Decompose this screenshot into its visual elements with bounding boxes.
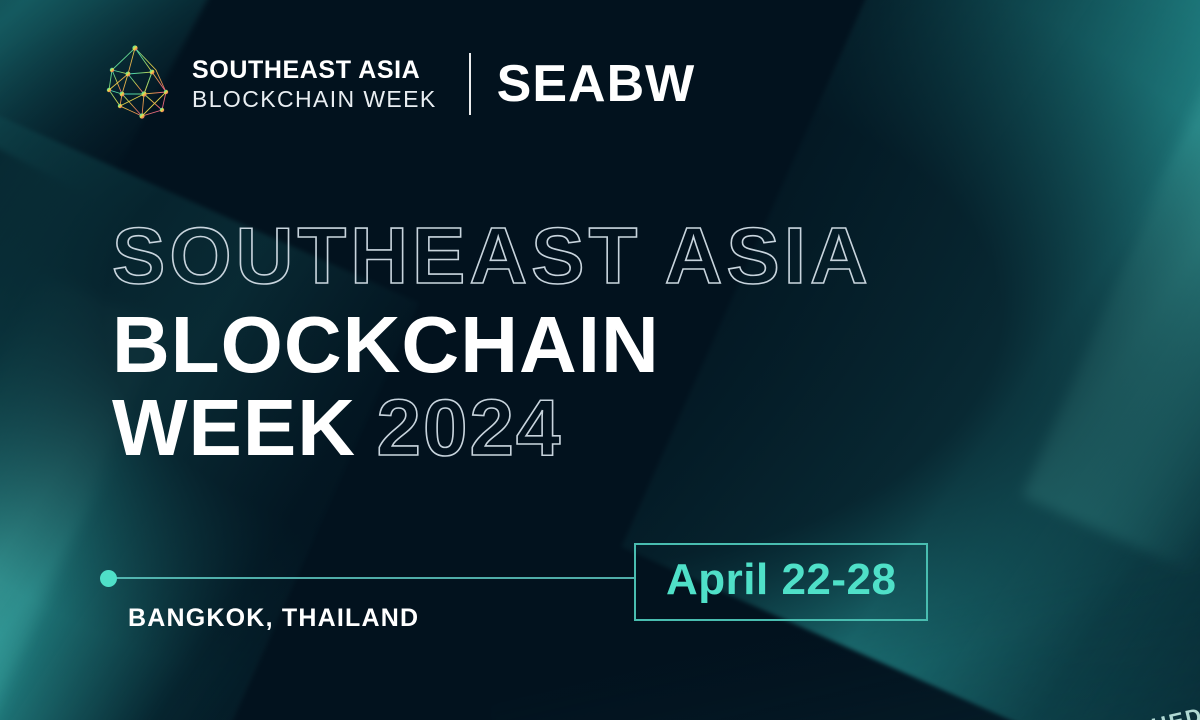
brand-lockup: SOUTHEAST ASIA BLOCKCHAIN WEEK SEABW [100,44,695,124]
network-constellation-icon [100,44,176,124]
page-title: SOUTHEAST ASIA BLOCKCHAIN WEEK 2024 [112,218,872,466]
event-location: BANGKOK, THAILAND [128,604,419,633]
brand-wordmark: SOUTHEAST ASIA BLOCKCHAIN WEEK [192,58,437,111]
partner-hashed: #HASHED [1084,703,1200,720]
headline-row-3: WEEK 2024 [112,390,872,467]
headline-southeast-asia: SOUTHEAST ASIA [112,218,872,295]
event-date-badge: April 22-28 [634,543,928,621]
brand-divider [469,53,471,115]
brand-wordmark-line-2: BLOCKCHAIN WEEK [192,88,437,111]
brand-abbreviation: SEABW [497,54,696,114]
event-date-text: April 22-28 [666,558,896,602]
partner-lockup: SHARDLAB x #HASHED [867,703,1200,720]
decor-band-top-right-sliver [1021,0,1200,573]
brand-wordmark-line-1: SOUTHEAST ASIA [192,58,437,83]
headline-row-1: SOUTHEAST ASIA [112,218,872,295]
headline-year: 2024 [376,390,562,467]
event-poster: SOUTHEAST ASIA BLOCKCHAIN WEEK SEABW SOU… [0,0,1200,720]
connector-dot [100,570,117,587]
headline-week: WEEK [112,390,356,467]
headline-row-2: BLOCKCHAIN [112,307,872,384]
connector-line [116,577,636,579]
headline-blockchain: BLOCKCHAIN [112,307,660,384]
